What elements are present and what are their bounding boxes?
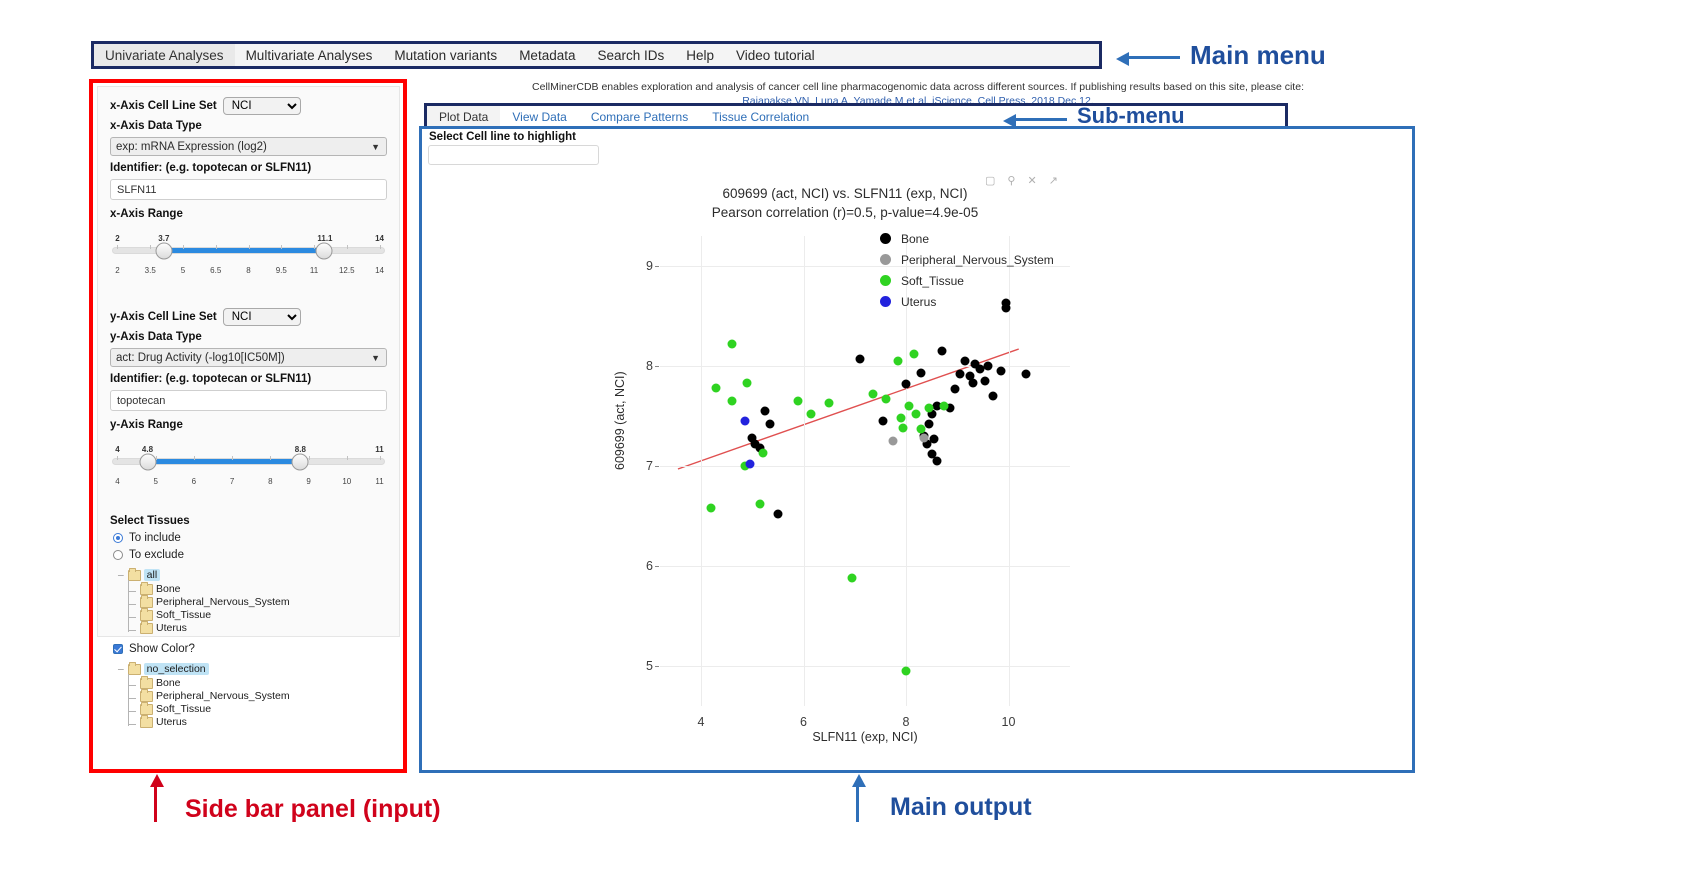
grid-line-vertical (701, 236, 702, 706)
sub-tab-compare-patterns[interactable]: Compare Patterns (579, 106, 700, 127)
data-point-bone[interactable] (989, 392, 998, 401)
menu-tab-univariate-analyses[interactable]: Univariate Analyses (94, 44, 235, 66)
folder-icon (140, 717, 153, 728)
x-axis-slider-ticks (112, 245, 385, 250)
data-point-soft_tissue[interactable] (794, 397, 803, 406)
x-axis-data-type-select[interactable]: exp: mRNA Expression (log2) ▼ (110, 137, 387, 156)
menu-tab-help[interactable]: Help (675, 44, 725, 66)
expand-icon[interactable]: ─ (118, 665, 124, 674)
x-axis-range-slider[interactable]: 2 3.7 11.1 14 2 3.5 5 6.5 8 9.5 11 12.5 … (112, 234, 385, 272)
sub-tab-label: Plot Data (439, 110, 488, 124)
y-axis-range-label: y-Axis Range (110, 419, 387, 431)
folder-icon (140, 678, 153, 689)
sidebar-arrow (154, 786, 157, 822)
x-axis-identifier-label: Identifier: (e.g. topotecan or SLFN11) (110, 161, 387, 176)
y-axis-tick-label: 6 (646, 559, 653, 573)
data-point-soft_tissue[interactable] (868, 390, 877, 399)
sub-menu-arrow (1015, 118, 1067, 121)
tissue-tree-include[interactable]: ─ all Bone Peripheral_Nervous_System Sof… (118, 569, 387, 634)
menu-tab-video-tutorial[interactable]: Video tutorial (725, 44, 826, 66)
tree-item-label: Peripheral_Nervous_System (156, 596, 290, 608)
tree-item-peripheral-nervous-system[interactable]: Peripheral_Nervous_System (140, 690, 387, 702)
tick-label: 12.5 (339, 266, 355, 275)
tick-label: 8 (268, 477, 272, 486)
x-axis-cell-line-set-select[interactable]: NCI (223, 97, 301, 115)
y-axis-range-max-end: 11 (375, 445, 383, 454)
chevron-down-icon: ▼ (371, 353, 380, 363)
y-axis-tick-label: 5 (646, 659, 653, 673)
data-point-soft_tissue[interactable] (909, 350, 918, 359)
data-point-bone[interactable] (925, 420, 934, 429)
tree-item-peripheral-nervous-system[interactable]: Peripheral_Nervous_System (140, 596, 387, 608)
expand-icon[interactable]: ─ (118, 571, 124, 580)
legend-item-uterus[interactable]: Uterus (880, 291, 1054, 312)
menu-tab-multivariate-analyses[interactable]: Multivariate Analyses (235, 44, 384, 66)
checkbox-checked-icon[interactable] (113, 644, 123, 654)
tick-label: 4 (115, 477, 119, 486)
y-axis-slider-tick-labels: 4 5 6 7 8 9 10 11 (112, 477, 385, 488)
main-menu[interactable]: Univariate Analyses Multivariate Analyse… (91, 41, 1102, 69)
x-axis-cell-line-set-label: x-Axis Cell Line Set (110, 99, 217, 114)
tree-item-label: Peripheral_Nervous_System (156, 690, 290, 702)
tree-item-bone[interactable]: Bone (140, 583, 387, 595)
data-point-soft_tissue[interactable] (755, 500, 764, 509)
data-point-bone[interactable] (950, 385, 959, 394)
data-point-bone[interactable] (930, 435, 939, 444)
data-point-bone[interactable] (773, 510, 782, 519)
folder-icon (140, 597, 153, 608)
radio-include-icon[interactable] (113, 533, 123, 543)
legend-color-dot (880, 254, 891, 265)
legend-label: Uterus (901, 295, 936, 309)
menu-tab-label: Mutation variants (394, 48, 497, 63)
select-tissues-title: Select Tissues (110, 515, 387, 527)
x-axis-tick-label: 6 (800, 715, 807, 729)
chart-legend: Bone Peripheral_Nervous_System Soft_Tiss… (880, 228, 1054, 312)
grid-line-horizontal (660, 566, 1070, 567)
x-axis-identifier-value: SLFN11 (117, 184, 157, 196)
y-axis-cell-line-set-row: y-Axis Cell Line Set NCI (110, 308, 387, 326)
data-point-bone[interactable] (1022, 370, 1031, 379)
menu-tab-label: Help (686, 48, 714, 63)
x-axis-data-type-value: exp: mRNA Expression (log2) (116, 141, 267, 153)
tree-item-bone[interactable]: Bone (140, 677, 387, 689)
x-axis-range-max-end: 14 (375, 234, 384, 243)
highlight-cell-line-input[interactable] (428, 145, 599, 165)
data-point-soft_tissue[interactable] (917, 425, 926, 434)
x-axis-data-type-label: x-Axis Data Type (110, 119, 387, 134)
menu-tab-label: Search IDs (597, 48, 664, 63)
legend-item-soft-tissue[interactable]: Soft_Tissue (880, 270, 1054, 291)
chart-subtitle: Pearson correlation (r)=0.5, p-value=4.9… (605, 203, 1085, 222)
x-axis-range-value-labels: 2 3.7 11.1 14 (112, 234, 385, 245)
folder-icon (140, 691, 153, 702)
y-axis-tick-label: 9 (646, 259, 653, 273)
tissue-tree-color[interactable]: ─ no_selection Bone Peripheral_Nervous_S… (118, 663, 387, 728)
grid-line-horizontal (660, 666, 1070, 667)
menu-tab-metadata[interactable]: Metadata (508, 44, 586, 66)
y-axis-identifier-label: Identifier: (e.g. topotecan or SLFN11) (110, 372, 387, 387)
data-point-bone[interactable] (878, 417, 887, 426)
data-point-soft_tissue[interactable] (727, 340, 736, 349)
y-axis-cell-line-set-label: y-Axis Cell Line Set (110, 310, 217, 325)
show-color-checkbox-row[interactable]: Show Color? (113, 643, 387, 655)
x-axis-tick-label: 10 (1002, 715, 1016, 729)
data-point-soft_tissue[interactable] (707, 504, 716, 513)
data-point-uterus[interactable] (745, 460, 754, 469)
output-arrow (856, 786, 859, 822)
data-point-soft_tissue[interactable] (925, 404, 934, 413)
data-point-bone[interactable] (855, 355, 864, 364)
x-axis-label: SLFN11 (exp, NCI) (660, 730, 1070, 744)
y-axis-tick-label: 7 (646, 459, 653, 473)
x-axis-tick-label: 8 (903, 715, 910, 729)
sidebar-callout: Side bar panel (input) (185, 795, 441, 824)
data-point-soft_tissue[interactable] (743, 379, 752, 388)
y-axis-identifier-input[interactable]: topotecan (110, 390, 387, 411)
chevron-down-icon: ▼ (371, 142, 380, 152)
data-point-soft_tissue[interactable] (727, 397, 736, 406)
tree-root-label: no_selection (144, 663, 209, 675)
legend-item-bone[interactable]: Bone (880, 228, 1054, 249)
data-point-soft_tissue[interactable] (899, 424, 908, 433)
folder-icon (140, 704, 153, 715)
data-point-soft_tissue[interactable] (712, 384, 721, 393)
y-axis-range-min-end: 4 (115, 445, 119, 454)
x-axis-range-label: x-Axis Range (110, 208, 387, 220)
data-point-soft_tissue[interactable] (912, 410, 921, 419)
y-axis-data-type-select[interactable]: act: Drug Activity (-log10[IC50M]) ▼ (110, 348, 387, 367)
tree-root-no-selection[interactable]: ─ no_selection (118, 663, 387, 675)
data-point-uterus[interactable] (740, 417, 749, 426)
data-point-bone[interactable] (932, 457, 941, 466)
legend-label: Bone (901, 232, 929, 246)
y-axis-range-slider[interactable]: 4 4.8 8.8 11 4 5 6 7 8 9 10 11 (112, 445, 385, 483)
data-point-bone[interactable] (766, 420, 775, 429)
tree-root-all[interactable]: ─ all (118, 569, 387, 581)
data-point-soft_tissue[interactable] (881, 395, 890, 404)
tick-label: 5 (153, 477, 157, 486)
tree-item-uterus[interactable]: Uterus (140, 622, 387, 634)
tree-item-label: Soft_Tissue (156, 609, 211, 621)
data-point-soft_tissue[interactable] (825, 399, 834, 408)
legend-color-dot (880, 233, 891, 244)
data-point-bone[interactable] (960, 357, 969, 366)
radio-to-include[interactable]: To include (113, 532, 387, 544)
y-axis-identifier-value: topotecan (117, 395, 165, 407)
folder-icon (140, 623, 153, 634)
show-color-label: Show Color? (129, 643, 195, 655)
sub-tab-view-data[interactable]: View Data (500, 106, 578, 127)
tree-item-label: Uterus (156, 622, 187, 634)
sub-tab-label: Compare Patterns (591, 110, 688, 124)
tick-label: 8 (246, 266, 250, 275)
highlight-cell-line-label: Select Cell line to highlight (429, 131, 576, 143)
sub-tab-tissue-correlation[interactable]: Tissue Correlation (700, 106, 821, 127)
data-point-soft_tissue[interactable] (902, 667, 911, 676)
data-point-peripheral_nervous_system[interactable] (919, 434, 928, 443)
main-menu-callout: Main menu (1190, 40, 1326, 71)
legend-color-dot (880, 296, 891, 307)
tree-item-label: Bone (156, 677, 181, 689)
radio-to-exclude[interactable]: To exclude (113, 549, 387, 561)
y-axis-tick-label: 8 (646, 359, 653, 373)
tree-item-soft-tissue[interactable]: Soft_Tissue (140, 609, 387, 621)
tree-item-label: Bone (156, 583, 181, 595)
x-axis-cell-line-set-row: x-Axis Cell Line Set NCI (110, 97, 387, 115)
menu-tab-label: Video tutorial (736, 48, 815, 63)
radio-exclude-label: To exclude (129, 549, 184, 561)
output-callout: Main output (890, 793, 1032, 822)
data-point-bone[interactable] (968, 379, 977, 388)
tree-item-label: Uterus (156, 716, 187, 728)
y-axis-data-type-value: act: Drug Activity (-log10[IC50M]) (116, 352, 285, 364)
data-point-bone[interactable] (761, 407, 770, 416)
tick-label: 6 (192, 477, 196, 486)
data-point-soft_tissue[interactable] (896, 414, 905, 423)
sub-tab-label: View Data (512, 110, 566, 124)
data-point-bone[interactable] (902, 380, 911, 389)
x-axis-range-min-end: 2 (115, 234, 119, 243)
tick-label: 14 (375, 266, 384, 275)
main-menu-arrow (1128, 56, 1180, 59)
data-point-soft_tissue[interactable] (848, 574, 857, 583)
data-point-soft_tissue[interactable] (758, 449, 767, 458)
menu-tab-label: Metadata (519, 48, 575, 63)
data-point-bone[interactable] (955, 370, 964, 379)
radio-exclude-icon[interactable] (113, 550, 123, 560)
legend-color-dot (880, 275, 891, 286)
sub-tab-plot-data[interactable]: Plot Data (427, 106, 500, 127)
legend-label: Soft_Tissue (901, 274, 964, 288)
menu-tab-label: Multivariate Analyses (246, 48, 373, 63)
radio-include-label: To include (129, 532, 181, 544)
y-axis-data-type-label: y-Axis Data Type (110, 330, 387, 345)
citation-line-1: CellMinerCDB enables exploration and ana… (532, 81, 1304, 93)
tick-label: 2 (115, 266, 119, 275)
folder-icon (140, 610, 153, 621)
y-axis-cell-line-set-select[interactable]: NCI (223, 308, 301, 326)
submenu-callout: Sub-menu (1077, 103, 1185, 129)
x-axis-identifier-input[interactable]: SLFN11 (110, 179, 387, 200)
x-axis-slider-tick-labels: 2 3.5 5 6.5 8 9.5 11 12.5 14 (112, 266, 385, 277)
sub-tab-label: Tissue Correlation (712, 110, 809, 124)
data-point-peripheral_nervous_system[interactable] (889, 437, 898, 446)
data-point-soft_tissue[interactable] (894, 357, 903, 366)
y-axis-slider-ticks (112, 456, 385, 461)
folder-icon (128, 570, 141, 581)
data-point-soft_tissue[interactable] (940, 402, 949, 411)
tree-root-label: all (144, 569, 161, 581)
legend-label: Peripheral_Nervous_System (901, 253, 1054, 267)
sidebar-panel: x-Axis Cell Line Set NCI x-Axis Data Typ… (97, 86, 400, 637)
data-point-soft_tissue[interactable] (904, 402, 913, 411)
folder-icon (128, 664, 141, 675)
tick-label: 6.5 (210, 266, 221, 275)
tick-label: 5 (181, 266, 185, 275)
menu-tab-mutation-variants[interactable]: Mutation variants (383, 44, 508, 66)
folder-icon (140, 584, 153, 595)
data-point-soft_tissue[interactable] (807, 410, 816, 419)
y-axis-label: 609699 (act, NCI) (613, 371, 627, 470)
data-point-bone[interactable] (937, 347, 946, 356)
tick-label: 10 (342, 477, 351, 486)
data-point-bone[interactable] (917, 369, 926, 378)
tick-label: 3.5 (145, 266, 156, 275)
grid-line-horizontal (660, 366, 1070, 367)
menu-tab-label: Univariate Analyses (105, 48, 224, 63)
grid-line-vertical (804, 236, 805, 706)
data-point-bone[interactable] (981, 377, 990, 386)
grid-line-horizontal (660, 466, 1070, 467)
chart-title: 609699 (act, NCI) vs. SLFN11 (exp, NCI) (605, 184, 1085, 203)
tick-label: 9 (306, 477, 310, 486)
data-point-bone[interactable] (984, 362, 993, 371)
tree-item-uterus[interactable]: Uterus (140, 716, 387, 728)
menu-tab-search-ids[interactable]: Search IDs (586, 44, 675, 66)
tick-label: 11 (310, 266, 318, 275)
tick-label: 9.5 (276, 266, 287, 275)
tree-item-label: Soft_Tissue (156, 703, 211, 715)
scatter-plot: 609699 (act, NCI) vs. SLFN11 (exp, NCI) … (425, 170, 1410, 765)
data-point-bone[interactable] (996, 367, 1005, 376)
tick-label: 11 (375, 477, 383, 486)
x-axis-tick-label: 4 (698, 715, 705, 729)
tick-label: 7 (230, 477, 234, 486)
chart-title-block: 609699 (act, NCI) vs. SLFN11 (exp, NCI) … (605, 184, 1085, 222)
tree-item-soft-tissue[interactable]: Soft_Tissue (140, 703, 387, 715)
legend-item-peripheral-nervous-system[interactable]: Peripheral_Nervous_System (880, 249, 1054, 270)
